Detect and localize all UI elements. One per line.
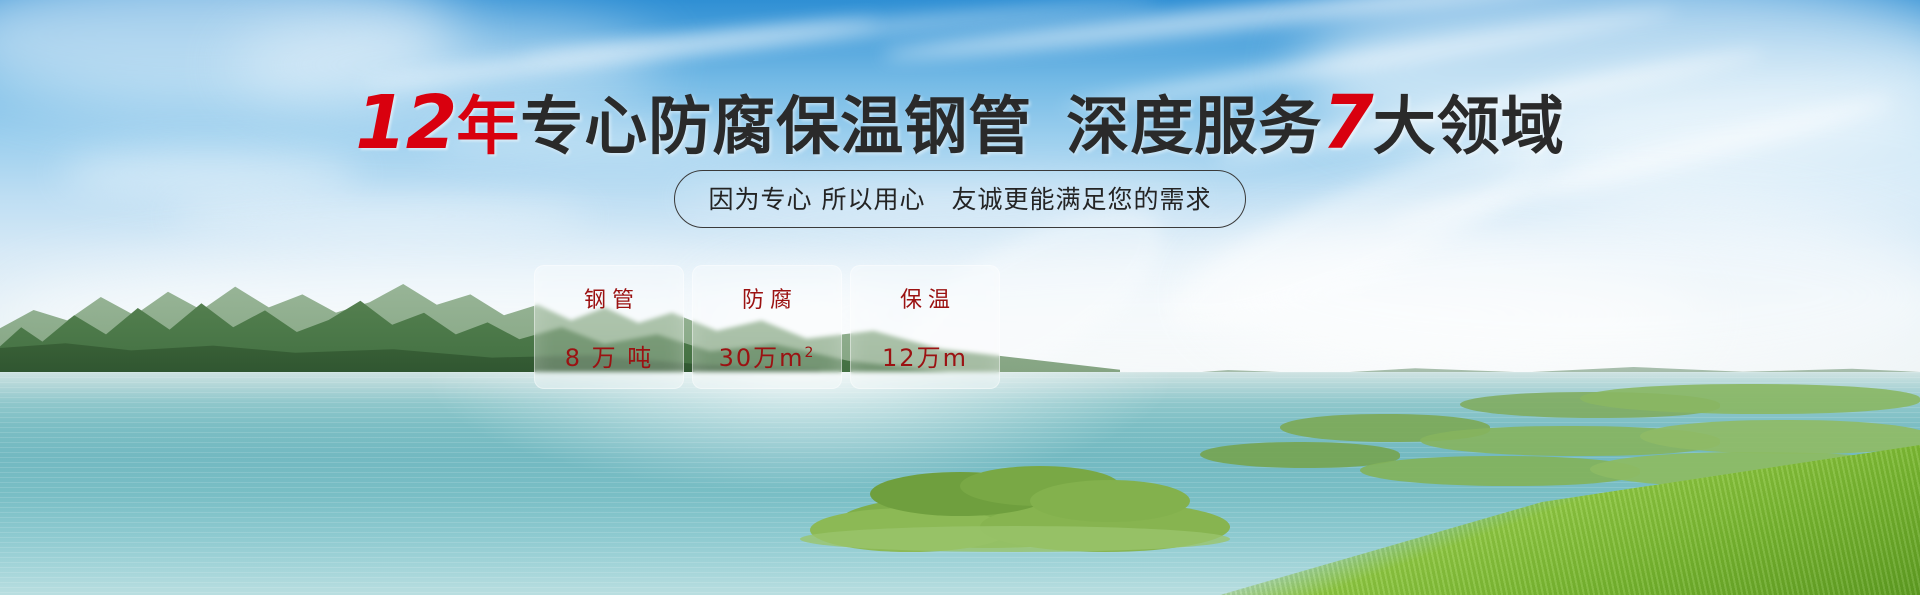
stat-card-title: 钢管 <box>578 282 640 314</box>
subtitle-wrapper: 因为专心 所以用心 友诚更能满足您的需求 <box>0 170 1920 228</box>
stat-card-value-superscript: 2 <box>805 345 816 361</box>
stat-card-value-text: 12万m <box>882 344 968 372</box>
stat-card-value-text: 30万m <box>719 344 805 372</box>
stat-card-value: 30万m2 <box>719 338 816 373</box>
stat-card-value: 12万m <box>882 338 968 373</box>
stat-card-value: 8 万 吨 <box>565 338 654 373</box>
stat-card-title: 防腐 <box>736 282 798 314</box>
headline-fields-number: 7 <box>1322 80 1373 166</box>
headline-service-text: 深度服务 <box>1066 90 1322 163</box>
subtitle-pill: 因为专心 所以用心 友诚更能满足您的需求 <box>674 170 1247 228</box>
stat-card-anticorrosion[interactable]: 防腐 30万m2 <box>692 265 842 389</box>
stat-card-value-text: 8 万 吨 <box>565 344 654 372</box>
headline-years-number: 12 <box>355 80 456 166</box>
banner-content: 12年专心防腐保温钢管深度服务7大领域 因为专心 所以用心 友诚更能满足您的需求… <box>0 0 1920 595</box>
headline-fields-text: 大领域 <box>1373 90 1565 163</box>
headline: 12年专心防腐保温钢管深度服务7大领域 <box>0 86 1920 160</box>
headline-main-text: 专心防腐保温钢管 <box>520 90 1032 163</box>
stat-card-title: 保温 <box>894 282 956 314</box>
stat-card-insulation[interactable]: 保温 12万m <box>850 265 1000 389</box>
stat-cards: 钢管 8 万 吨 防腐 30万m2 保温 12万m <box>534 265 1000 389</box>
headline-years-unit: 年 <box>456 90 520 163</box>
stat-card-steel-pipe[interactable]: 钢管 8 万 吨 <box>534 265 684 389</box>
hero-banner: 12年专心防腐保温钢管深度服务7大领域 因为专心 所以用心 友诚更能满足您的需求… <box>0 0 1920 595</box>
